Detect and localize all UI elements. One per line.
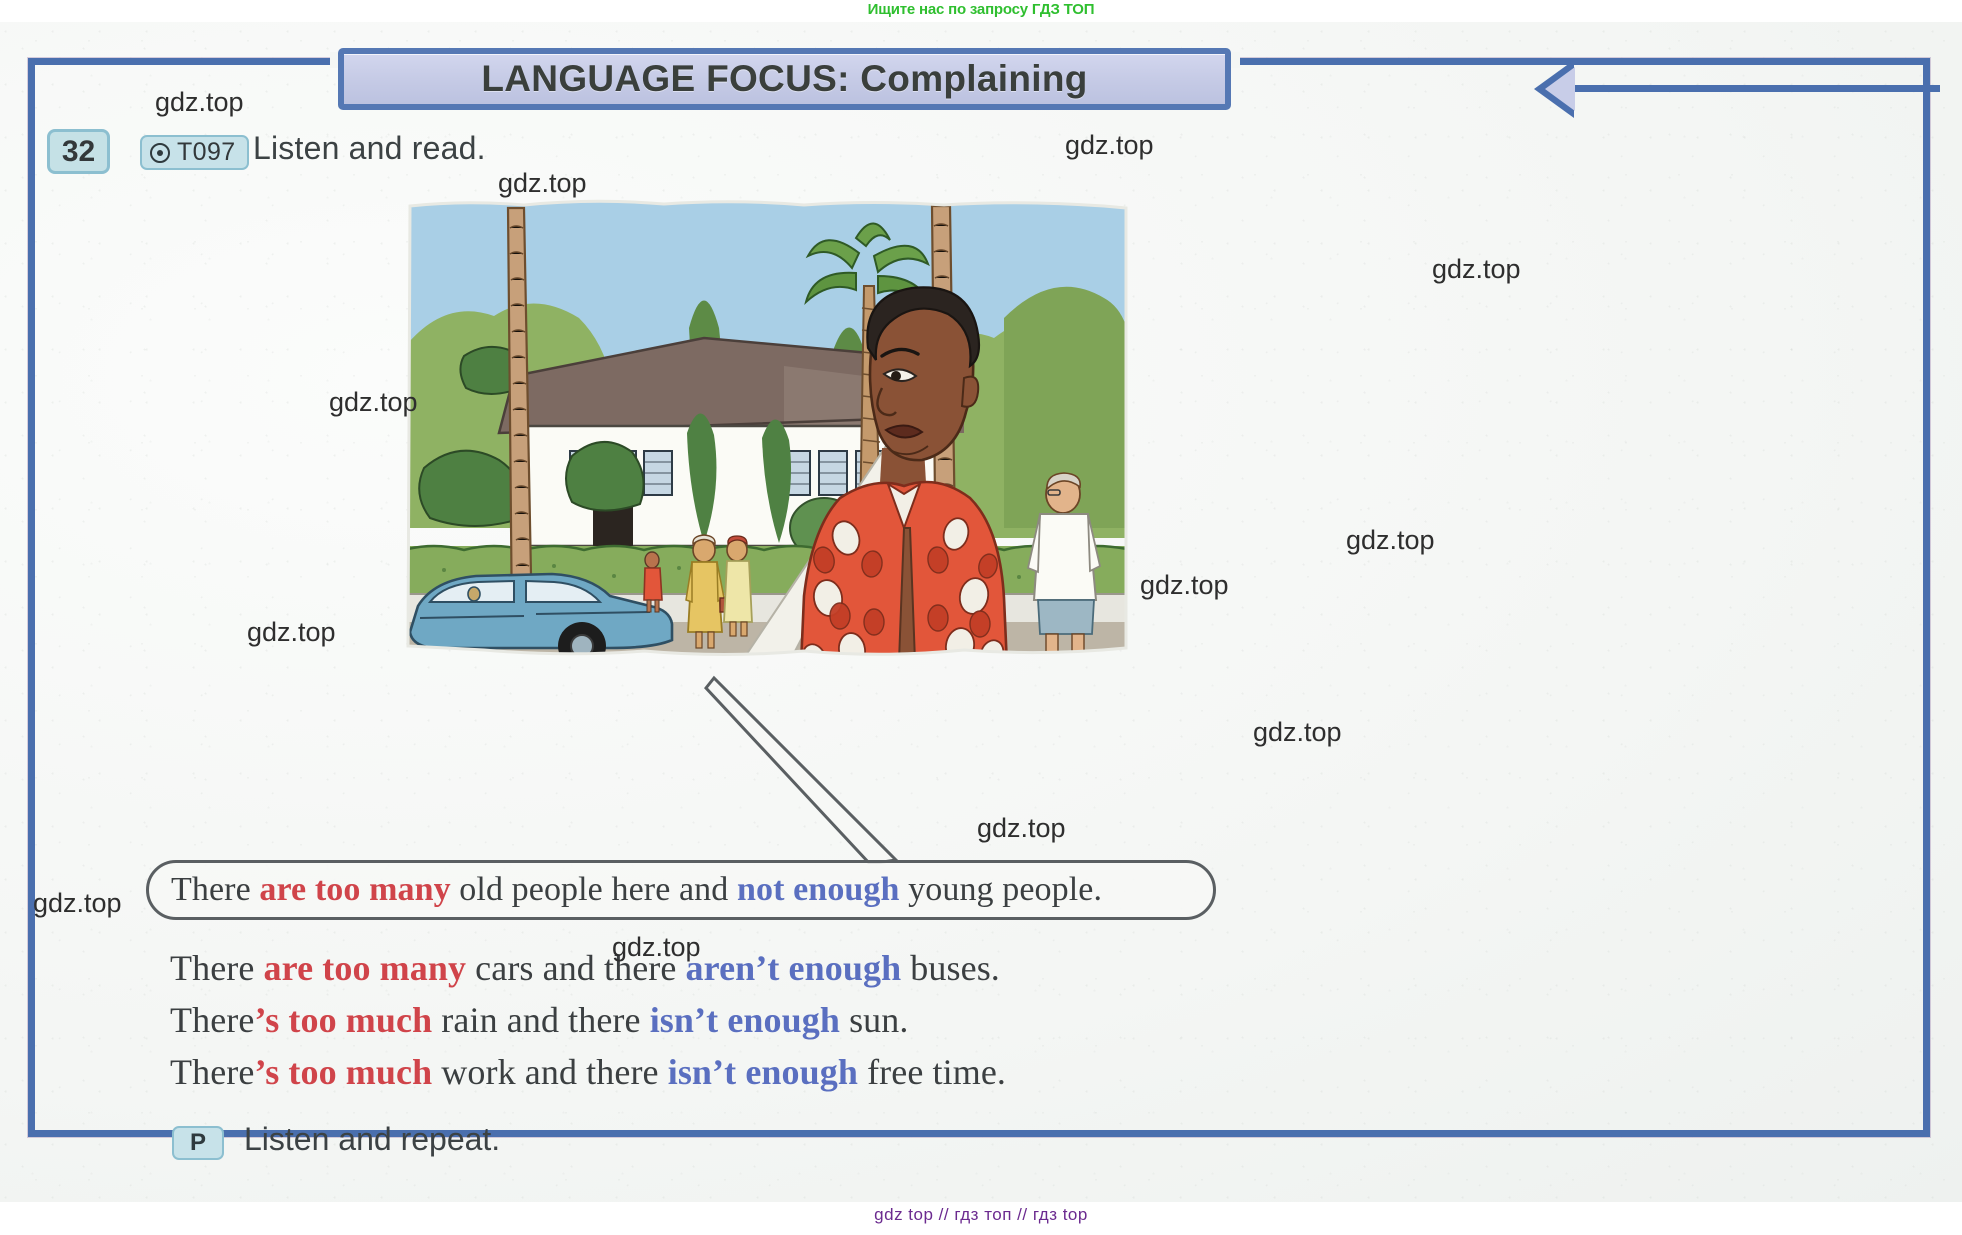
exercise-number-badge: 32 xyxy=(47,129,110,174)
bubble-segment-2: old people here and xyxy=(451,871,737,908)
banner-title: LANGUAGE FOCUS: Complaining xyxy=(481,58,1087,100)
audio-disc-icon xyxy=(150,143,170,163)
example-2-segment-1: ’s too much xyxy=(254,1000,432,1040)
watermark-6: gdz.top xyxy=(1140,570,1229,601)
arrow-left-icon-inner xyxy=(1545,67,1575,111)
watermark-10: gdz.top xyxy=(33,888,122,919)
bubble-segment-4: young people. xyxy=(900,871,1103,908)
bubble-segment-3: not enough xyxy=(737,871,900,908)
example-2-segment-0: There xyxy=(170,1000,254,1040)
example-3-segment-4: free time. xyxy=(858,1052,1006,1092)
speech-bubble: There are too many old people here and n… xyxy=(146,860,1216,920)
speech-bubble-text: There are too many old people here and n… xyxy=(171,871,1102,909)
example-sentences: There are too many cars and there aren’t… xyxy=(170,942,1470,1098)
example-line-1: There are too many cars and there aren’t… xyxy=(170,942,1470,994)
example-1-segment-4: buses. xyxy=(901,948,1000,988)
example-3-segment-2: work and there xyxy=(432,1052,668,1092)
bottom-promo-text: gdz top // гдз топ // гдз top xyxy=(0,1205,1962,1225)
watermark-4: gdz.top xyxy=(329,387,418,418)
example-3-segment-0: There xyxy=(170,1052,254,1092)
watermark-5: gdz.top xyxy=(1346,525,1435,556)
example-2-segment-4: sun. xyxy=(840,1000,909,1040)
language-focus-banner: LANGUAGE FOCUS: Complaining xyxy=(338,48,1231,110)
instruction-listen-and-repeat: Listen and repeat. xyxy=(244,1121,500,1158)
example-1-segment-1: are too many xyxy=(264,948,467,988)
arrow-stem xyxy=(1560,85,1940,92)
watermark-8: gdz.top xyxy=(1253,717,1342,748)
practice-badge[interactable]: P xyxy=(172,1126,224,1160)
bubble-segment-0: There xyxy=(171,871,259,908)
example-1-segment-3: aren’t enough xyxy=(686,948,902,988)
street-scene-illustration xyxy=(404,198,1132,688)
example-1-segment-0: There xyxy=(170,948,264,988)
example-line-2: There’s too much rain and there isn’t en… xyxy=(170,994,1470,1046)
scanned-page: LANGUAGE FOCUS: Complaining 32 T097 List… xyxy=(0,22,1962,1202)
watermark-2: gdz.top xyxy=(1065,130,1154,161)
watermark-0: gdz.top xyxy=(155,87,244,118)
instruction-listen-and-read: Listen and read. xyxy=(253,130,486,167)
example-3-segment-3: isn’t enough xyxy=(668,1052,858,1092)
audio-track-label: T097 xyxy=(177,138,236,167)
example-2-segment-2: rain and there xyxy=(432,1000,650,1040)
audio-track-badge[interactable]: T097 xyxy=(140,135,249,170)
bubble-segment-1: are too many xyxy=(259,871,450,908)
watermark-9: gdz.top xyxy=(977,813,1066,844)
watermark-7: gdz.top xyxy=(247,617,336,648)
watermark-3: gdz.top xyxy=(1432,254,1521,285)
watermark-1: gdz.top xyxy=(498,168,587,199)
watermark-11: gdz.top xyxy=(612,932,701,963)
example-3-segment-1: ’s too much xyxy=(254,1052,432,1092)
example-line-3: There’s too much work and there isn’t en… xyxy=(170,1046,1470,1098)
example-2-segment-3: isn’t enough xyxy=(650,1000,840,1040)
top-promo-text: Ищите нас по запросу ГДЗ ТОП xyxy=(0,0,1962,20)
